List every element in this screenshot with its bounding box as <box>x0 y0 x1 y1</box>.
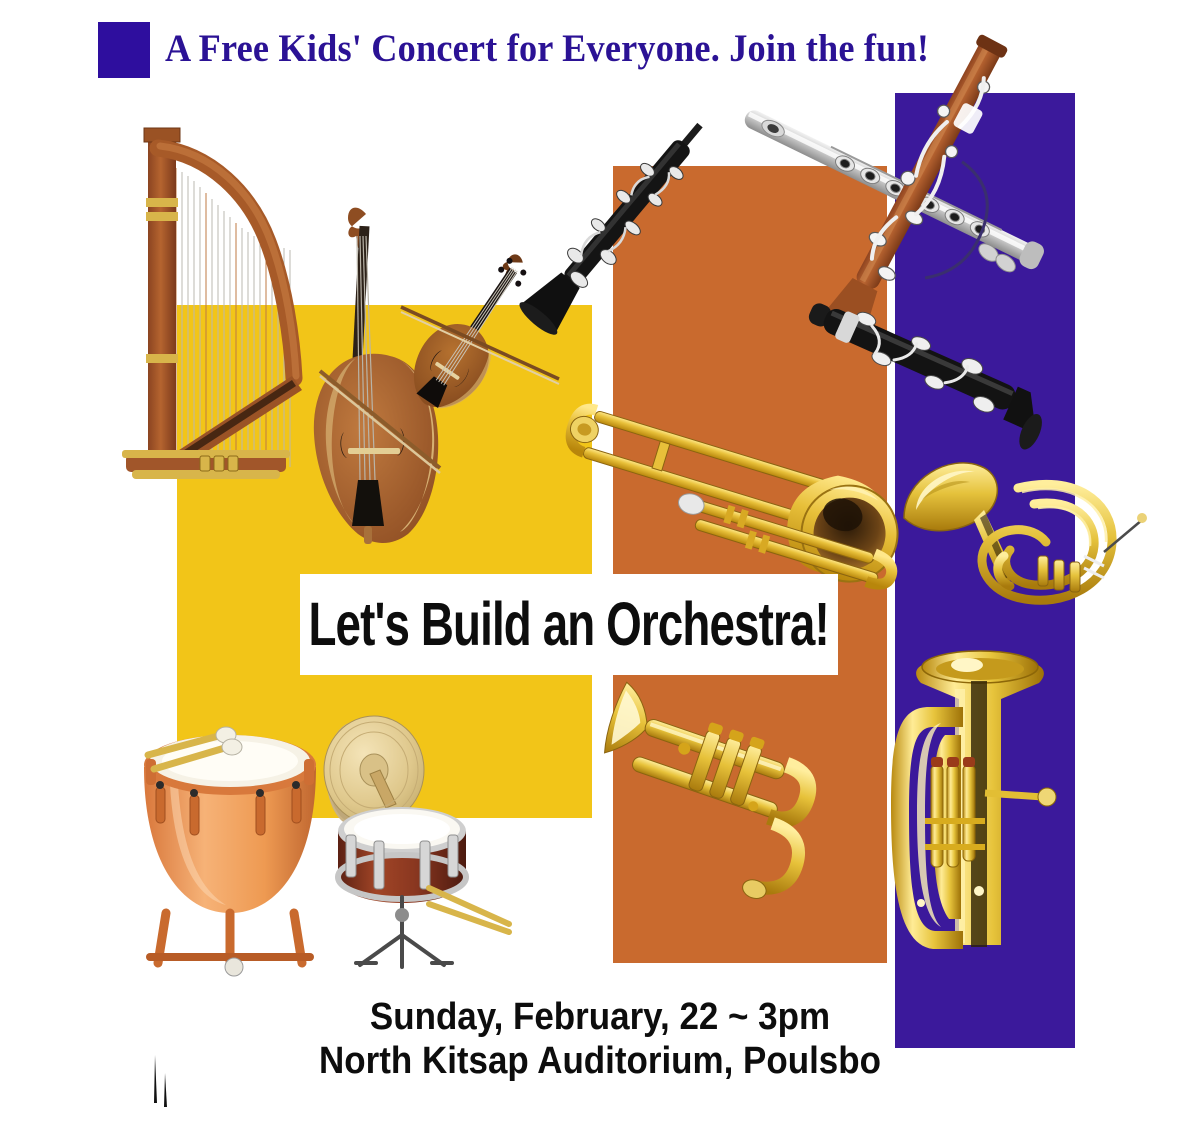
poster-canvas: A Free Kids' Concert for Everyone. Join … <box>0 0 1200 1121</box>
clarinet-illustration <box>790 290 1065 445</box>
event-details: Sunday, February, 22 ~ 3pm North Kitsap … <box>0 995 1200 1083</box>
timpani-illustration <box>130 725 330 975</box>
harp-illustration <box>100 118 325 493</box>
tuba-illustration <box>885 645 1075 975</box>
event-venue: North Kitsap Auditorium, Poulsbo <box>48 1039 1152 1083</box>
event-date-time: Sunday, February, 22 ~ 3pm <box>48 995 1152 1039</box>
page-title: Let's Build an Orchestra! <box>309 594 829 655</box>
oboe-illustration <box>485 92 755 367</box>
trumpet-illustration <box>588 700 848 885</box>
french-horn-illustration <box>898 448 1143 633</box>
title-band: Let's Build an Orchestra! <box>300 574 838 675</box>
logo-square <box>98 22 150 78</box>
snare-drum-illustration <box>330 785 475 970</box>
drumsticks-illustration <box>425 880 515 935</box>
